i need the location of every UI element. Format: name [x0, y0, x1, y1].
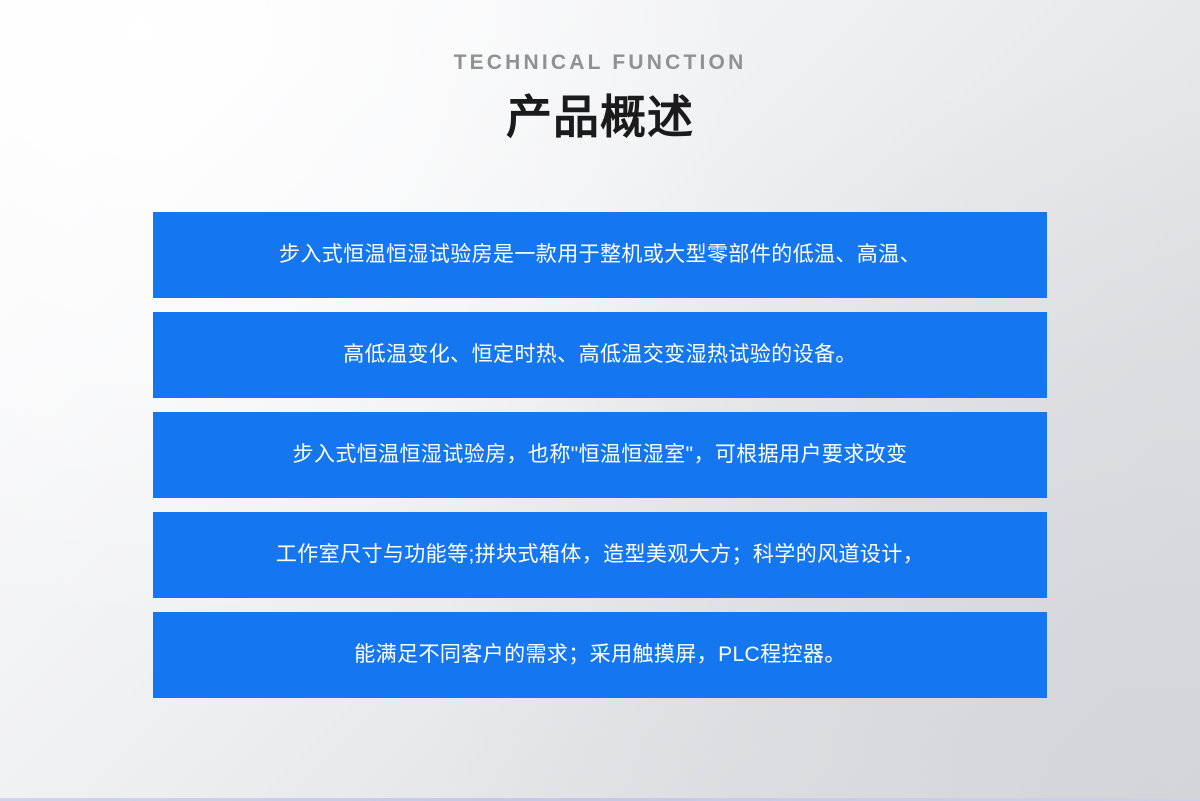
page-title: 产品概述 — [0, 91, 1200, 144]
description-bar-text: 步入式恒温恒湿试验房是一款用于整机或大型零部件的低温、高温、 — [279, 239, 921, 271]
eyebrow-label: TECHNICAL FUNCTION — [0, 52, 1200, 73]
description-bar: 步入式恒温恒湿试验房是一款用于整机或大型零部件的低温、高温、 — [153, 212, 1047, 298]
description-bar: 能满足不同客户的需求；采用触摸屏，PLC程控器。 — [153, 612, 1047, 698]
description-bar-text: 高低温变化、恒定时热、高低温交变湿热试验的设备。 — [343, 339, 857, 371]
description-bar: 高低温变化、恒定时热、高低温交变湿热试验的设备。 — [153, 312, 1047, 398]
description-bar-list: 步入式恒温恒湿试验房是一款用于整机或大型零部件的低温、高温、 高低温变化、恒定时… — [153, 175, 1047, 698]
description-bar-text: 能满足不同客户的需求；采用触摸屏，PLC程控器。 — [354, 639, 845, 671]
description-bar: 步入式恒温恒湿试验房，也称"恒温恒湿室"，可根据用户要求改变 — [153, 412, 1047, 498]
description-bar-text: 工作室尺寸与功能等;拼块式箱体，造型美观大方；科学的风道设计， — [276, 539, 924, 571]
page-header: TECHNICAL FUNCTION 产品概述 — [0, 0, 1200, 144]
description-bar: 工作室尺寸与功能等;拼块式箱体，造型美观大方；科学的风道设计， — [153, 512, 1047, 598]
product-overview-page: TECHNICAL FUNCTION 产品概述 步入式恒温恒湿试验房是一款用于整… — [0, 0, 1200, 801]
description-bar-text: 步入式恒温恒湿试验房，也称"恒温恒湿室"，可根据用户要求改变 — [293, 439, 908, 471]
